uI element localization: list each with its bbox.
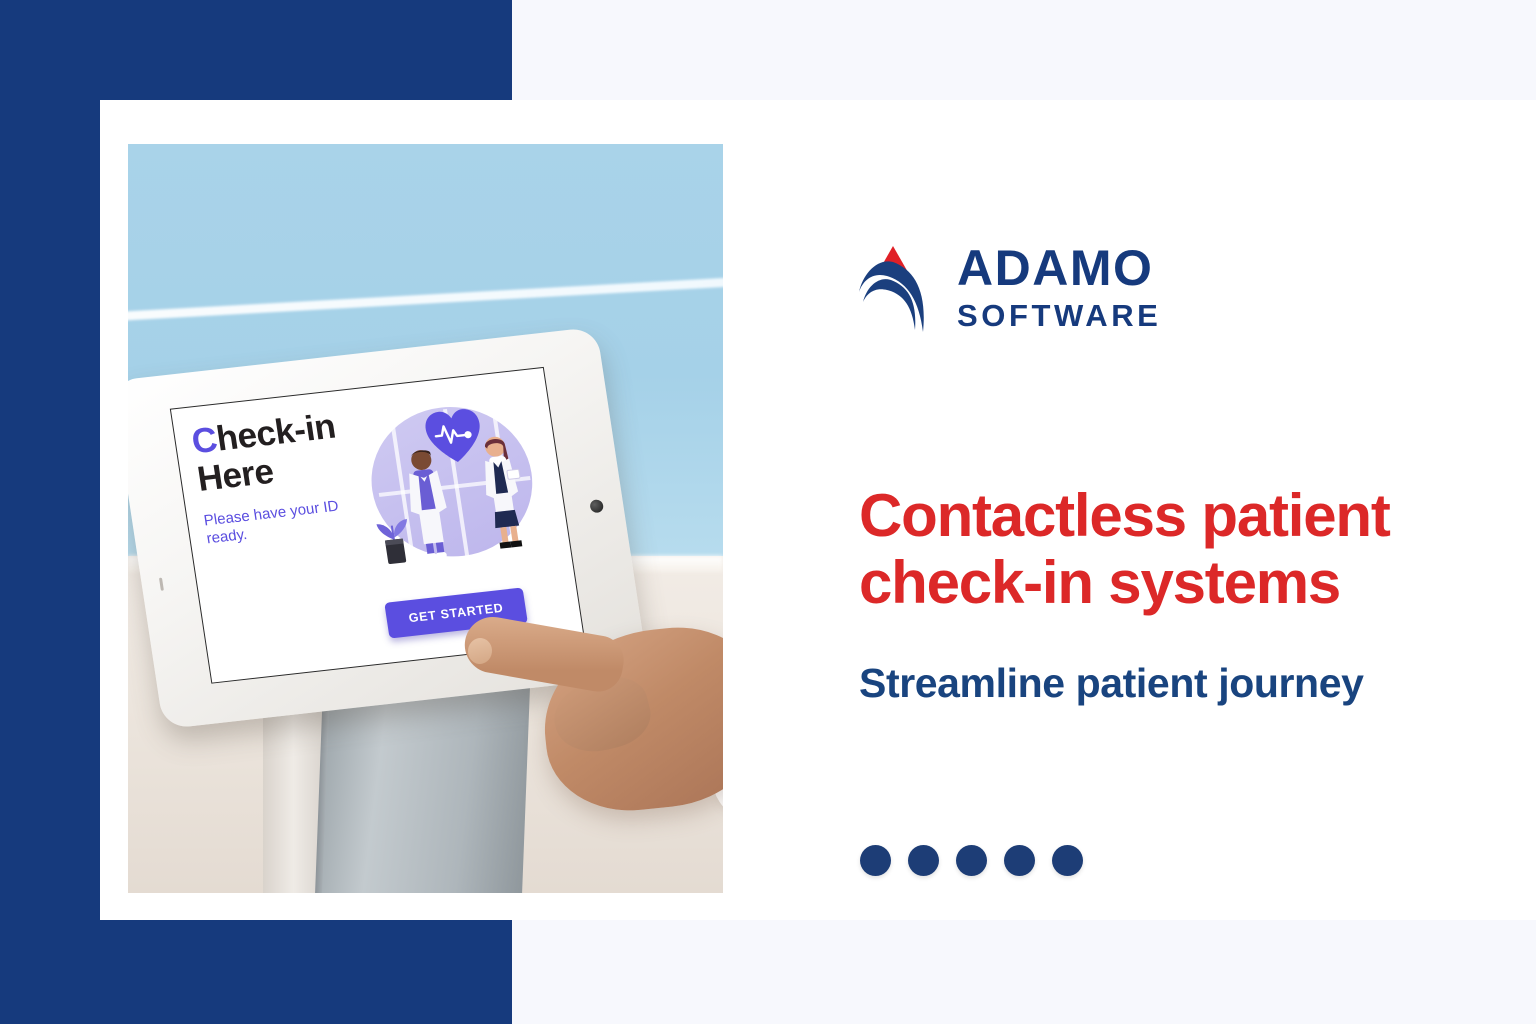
screen-subtitle: Please have your ID ready. (203, 494, 373, 549)
screen-title-rest: heck-in (214, 407, 338, 459)
logo-name-primary: ADAMO (957, 243, 1161, 293)
pagination-dot[interactable] (860, 845, 891, 876)
white-content-card: Check-inHere Please have your ID ready. (100, 100, 1536, 920)
adamo-logo[interactable]: ADAMO SOFTWARE (857, 240, 1161, 336)
pagination-dot[interactable] (1052, 845, 1083, 876)
text-panel: ADAMO SOFTWARE Contactless patientcheck-… (857, 240, 1536, 920)
adamo-swoosh-icon (857, 240, 929, 336)
pagination-dot[interactable] (908, 845, 939, 876)
page-subtitle: Streamline patient journey (859, 660, 1364, 707)
pointing-hand (458, 584, 723, 844)
logo-name-secondary: SOFTWARE (957, 298, 1161, 334)
health-illustration (347, 383, 562, 577)
headline-line-1: Contactless patient (859, 482, 1390, 549)
pagination-dot[interactable] (956, 845, 987, 876)
headline-line-2: check-in systems (859, 549, 1340, 616)
screen-title-line2: Here (195, 452, 276, 499)
pagination-dots[interactable] (860, 845, 1083, 876)
kiosk-photo: Check-inHere Please have your ID ready. (128, 144, 723, 893)
pagination-dot[interactable] (1004, 845, 1035, 876)
page-title: Contactless patientcheck-in systems (859, 482, 1390, 616)
